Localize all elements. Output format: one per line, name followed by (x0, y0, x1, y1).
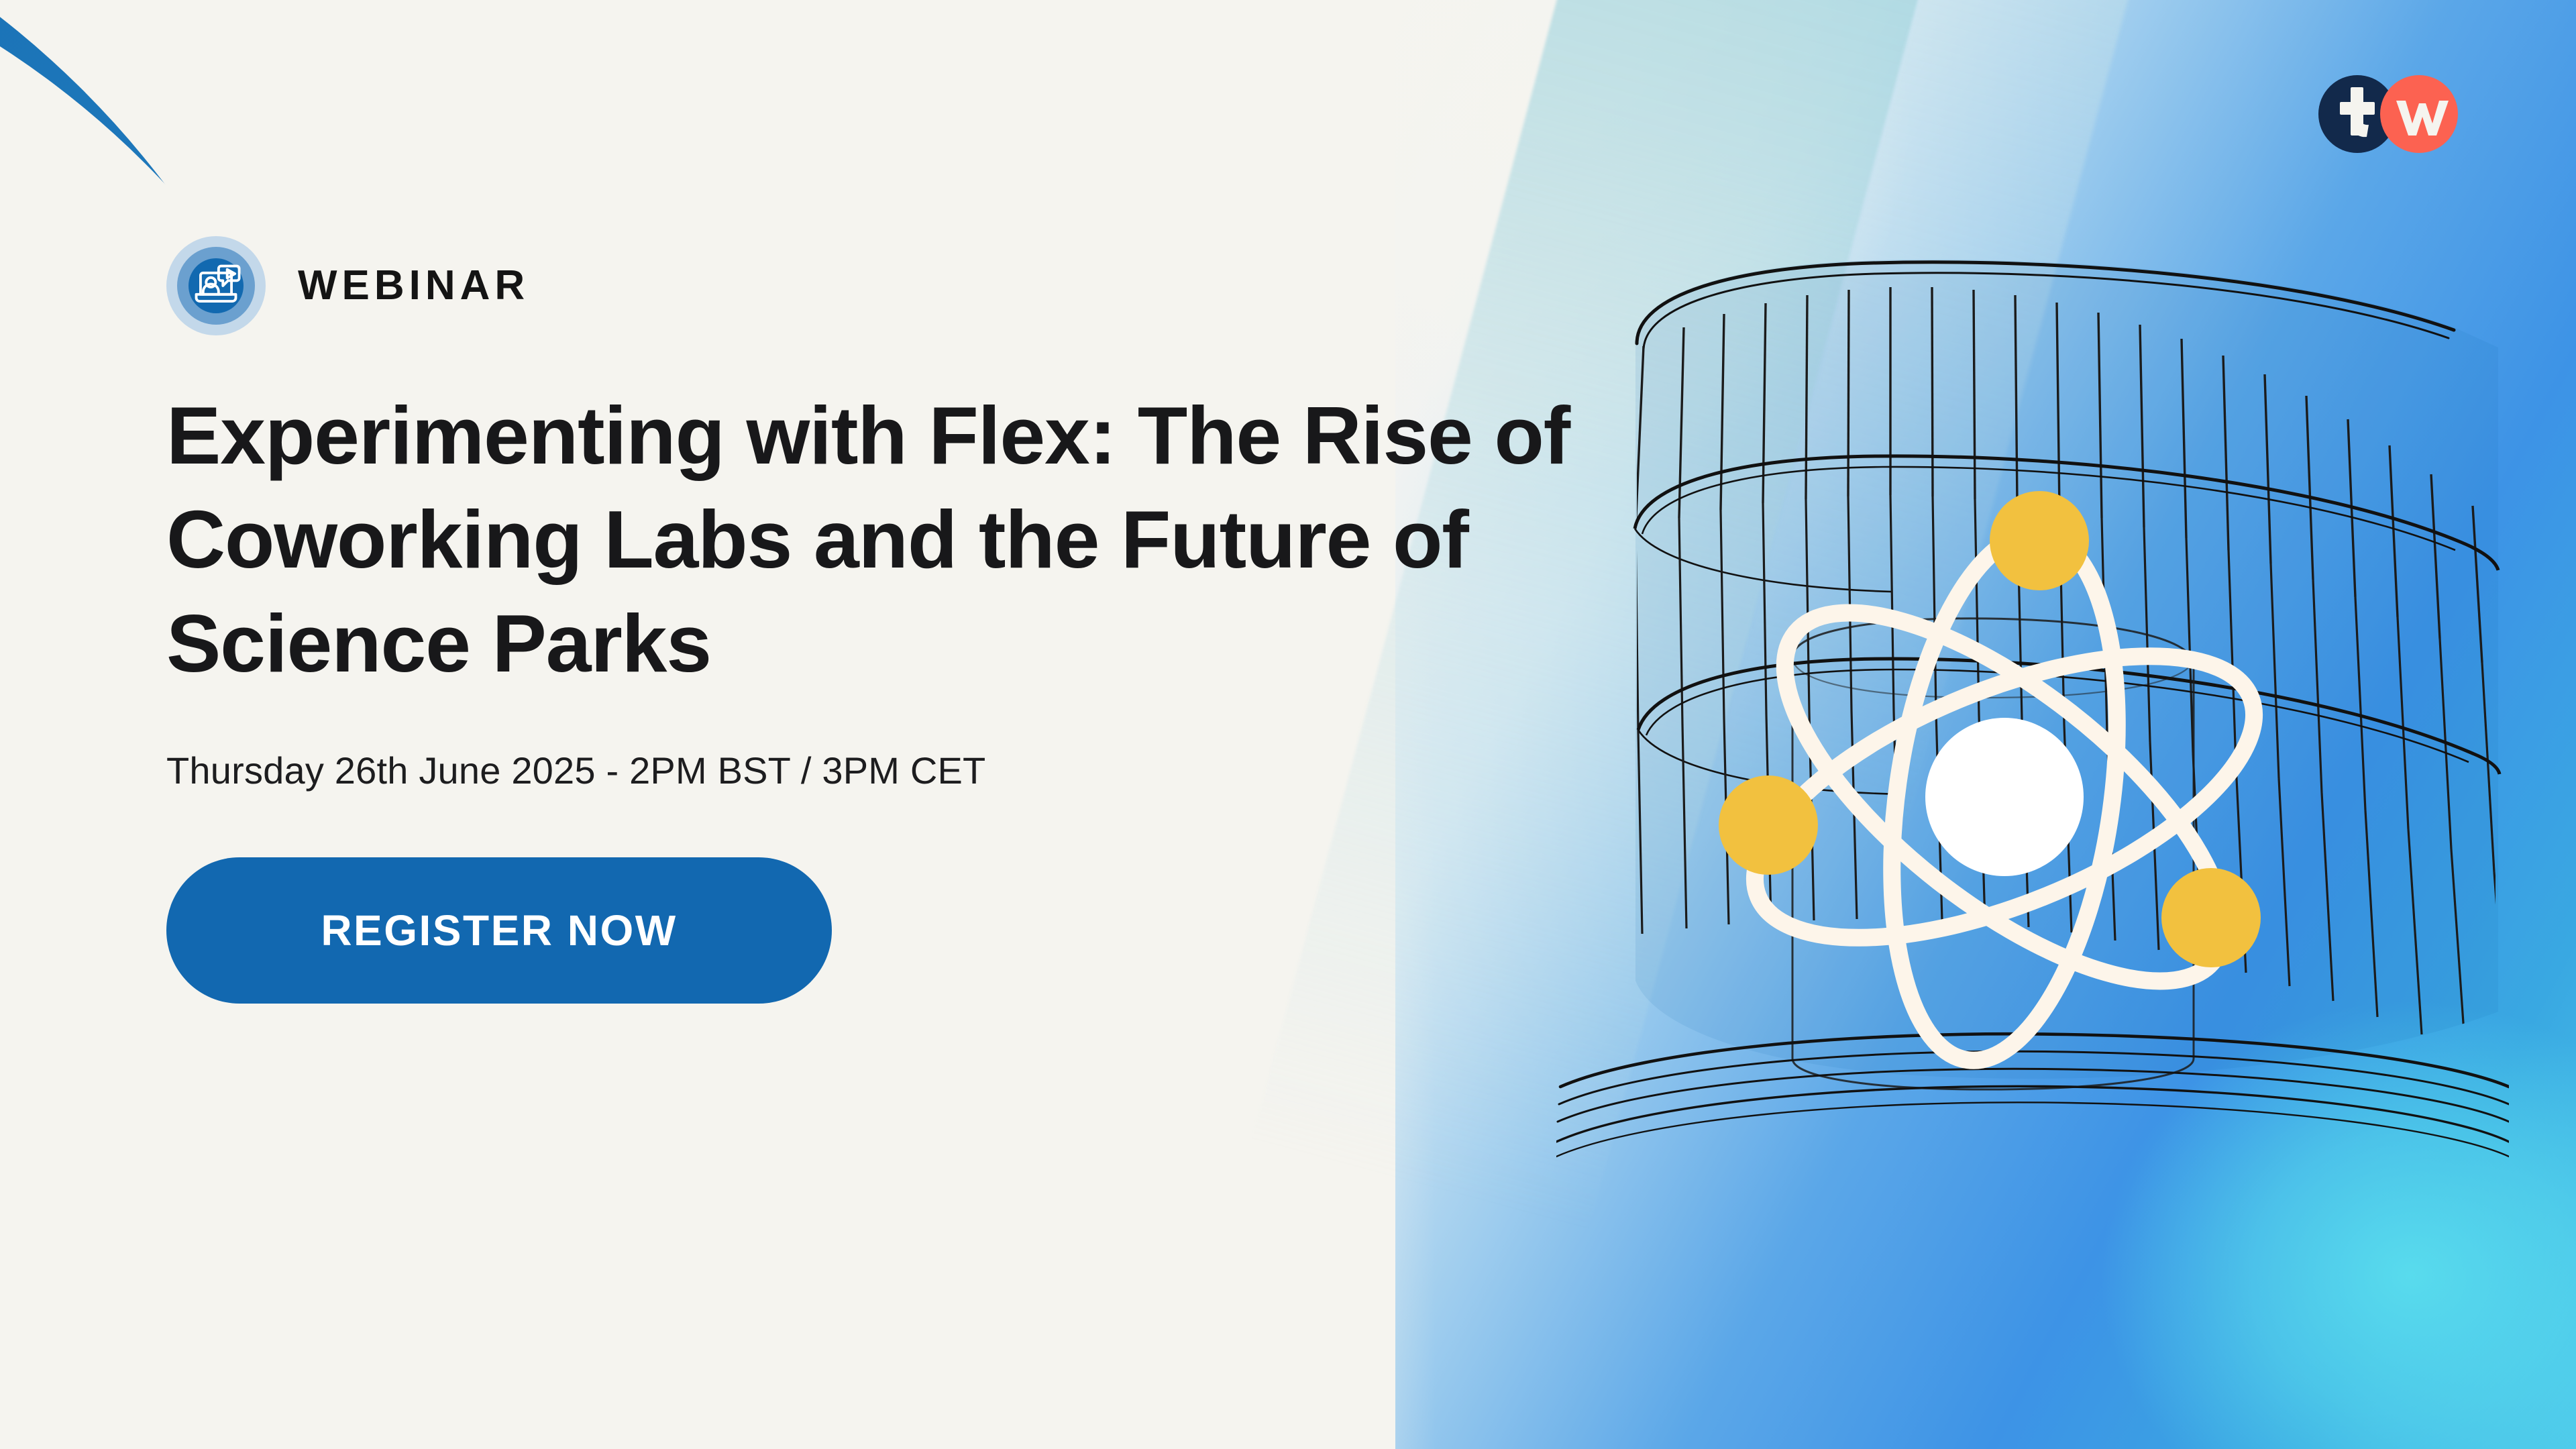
webinar-badge (166, 236, 266, 335)
webinar-laptop-icon (166, 236, 266, 335)
register-now-button[interactable]: REGISTER NOW (166, 857, 832, 1004)
webinar-banner: WEBINAR Experimenting with Flex: The Ris… (0, 0, 2576, 1449)
techworks-logo[interactable] (2316, 74, 2483, 154)
eyebrow-row: WEBINAR (166, 236, 1763, 335)
page-title: Experimenting with Flex: The Rise of Cow… (166, 384, 1709, 696)
event-dateline: Thursday 26th June 2025 - 2PM BST / 3PM … (166, 748, 1763, 793)
content-column: WEBINAR Experimenting with Flex: The Ris… (166, 236, 1763, 1004)
eyebrow-label: WEBINAR (298, 265, 529, 307)
